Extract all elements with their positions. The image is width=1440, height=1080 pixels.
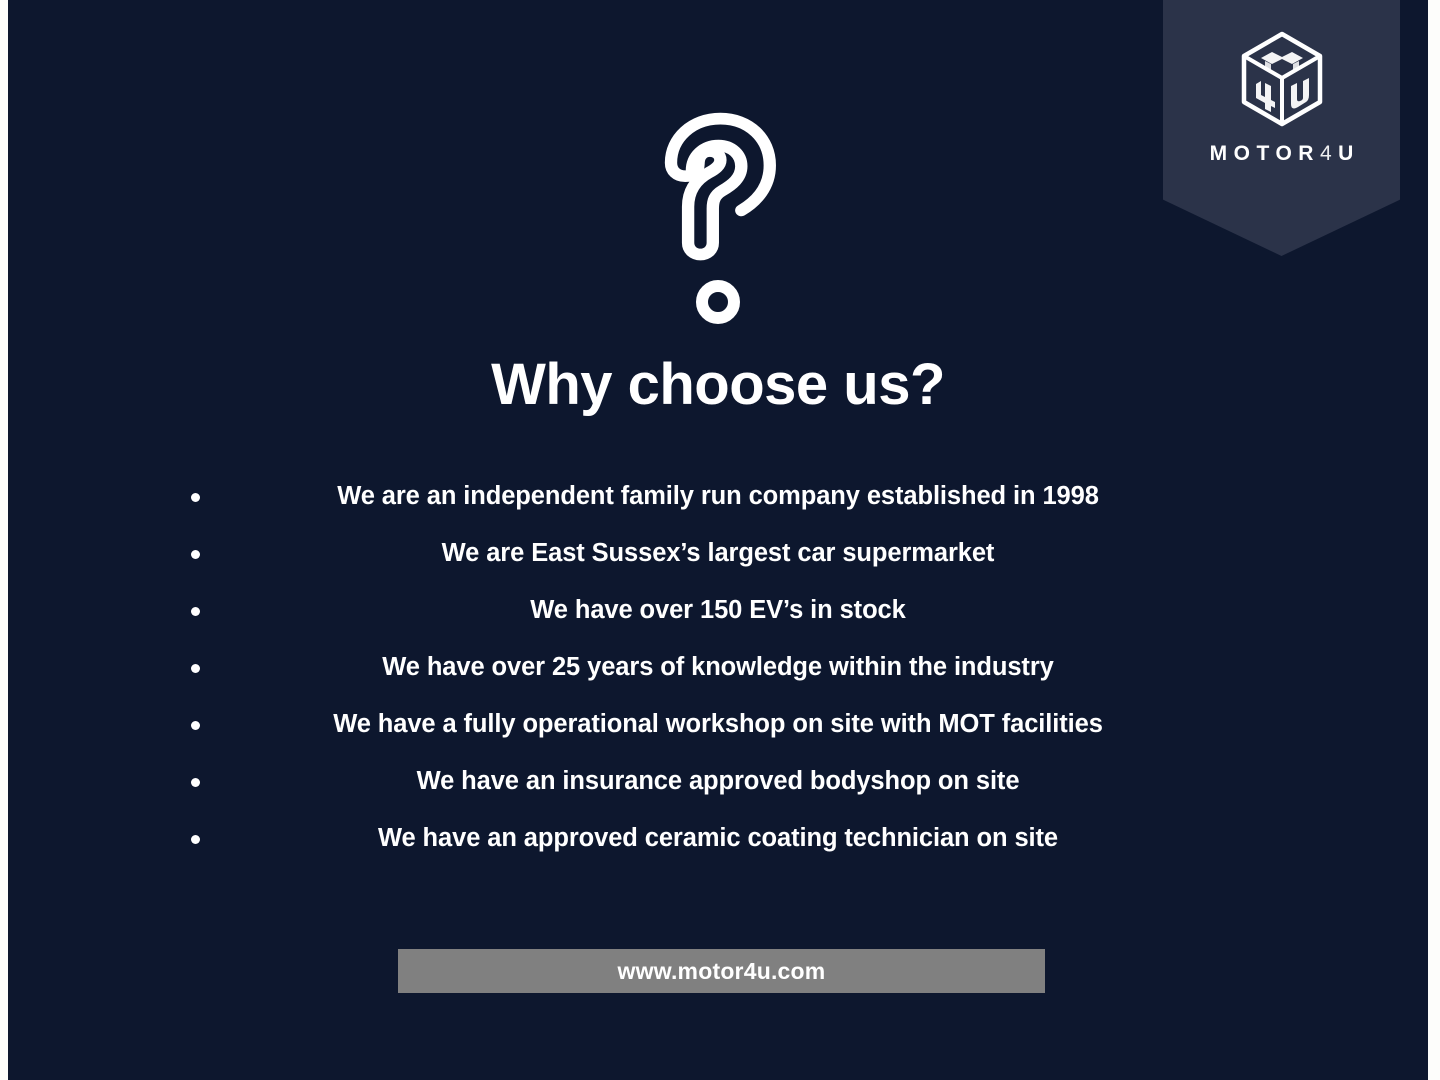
benefit-text: We have an insurance approved bodyshop o…	[417, 767, 1020, 796]
benefit-text: We have an approved ceramic coating tech…	[378, 824, 1058, 853]
benefit-text: We are East Sussex’s largest car superma…	[442, 539, 995, 568]
list-item: We have an approved ceramic coating tech…	[8, 810, 1428, 867]
page-title: Why choose us?	[8, 355, 1428, 416]
list-item: We are East Sussex’s largest car superma…	[8, 525, 1428, 582]
bullet-icon	[191, 550, 200, 559]
question-mark-icon	[8, 96, 1428, 328]
benefit-text: We have over 150 EV’s in stock	[530, 596, 905, 625]
bullet-icon	[191, 664, 200, 673]
slide-canvas: MOTOR4U Why choose us? We are an indepen…	[8, 0, 1428, 1080]
bullet-icon	[191, 493, 200, 502]
bullet-icon	[191, 835, 200, 844]
bullet-icon	[191, 778, 200, 787]
bullet-icon	[191, 607, 200, 616]
list-item: We have over 150 EV’s in stock	[8, 582, 1428, 639]
list-item: We have an insurance approved bodyshop o…	[8, 753, 1428, 810]
website-bar[interactable]: www.motor4u.com	[398, 949, 1045, 993]
benefit-text: We are an independent family run company…	[337, 482, 1099, 511]
slide-frame: MOTOR4U Why choose us? We are an indepen…	[0, 0, 1440, 1080]
website-url: www.motor4u.com	[618, 958, 826, 985]
list-item: We have over 25 years of knowledge withi…	[8, 639, 1428, 696]
list-item: We have a fully operational workshop on …	[8, 696, 1428, 753]
benefit-text: We have a fully operational workshop on …	[333, 710, 1103, 739]
benefit-text: We have over 25 years of knowledge withi…	[382, 653, 1053, 682]
benefits-list: We are an independent family run company…	[8, 468, 1428, 867]
list-item: We are an independent family run company…	[8, 468, 1428, 525]
bullet-icon	[191, 721, 200, 730]
